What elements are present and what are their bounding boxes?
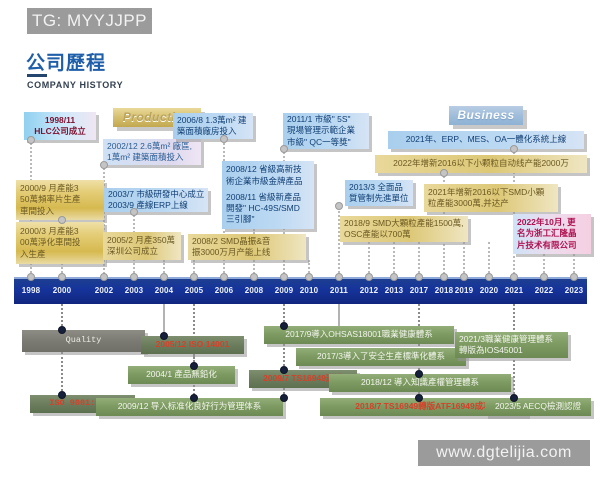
timeline-card-q-2009: 2009/12 导入标准化良好行为管理体系 — [96, 398, 283, 416]
axis-year-2023: 2023 — [565, 286, 584, 295]
timeline-card-text: 2021/3職業健康管理體系轉版為IOS45001 — [455, 332, 568, 358]
card-line: 2022年10月, 更 — [517, 217, 587, 228]
card-line: 片技术有限公司 — [517, 240, 587, 251]
axis-year-2002: 2002 — [95, 286, 114, 295]
card-line: 2013/3 全面品 — [349, 182, 409, 193]
connector-line — [488, 242, 490, 277]
timeline-card-text: 2011/1 市級" 5S"現場管理示範企業市級" QC一等獎" — [283, 113, 369, 149]
connector-line — [393, 242, 395, 277]
card-line: 2022年增新2016以下小颗粒自动线产能2000万 — [379, 158, 583, 169]
card-line: 粒產能3000萬,并达产 — [428, 198, 554, 209]
timeline-node-dot — [130, 208, 138, 216]
card-line: 術企業市級金牌產品 — [226, 176, 310, 187]
card-line: 現場管理示範企業 — [287, 125, 365, 136]
card-line: 1998/11 — [28, 115, 92, 126]
card-line: 2008/2 SMD晶振&音 — [192, 236, 302, 247]
card-line: 2021/3職業健康管理體系 — [459, 334, 564, 345]
card-line: 2017/9導入OHSAS18001職業健康體系 — [268, 329, 450, 340]
timeline-node-dot — [415, 394, 423, 402]
card-line: 2004/1 產品無鉛化 — [132, 369, 231, 380]
timeline-node-dot — [485, 273, 493, 281]
timeline-card-c2022b: 2022年10月, 更名为浙工汇隆晶片技术有限公司 — [513, 214, 591, 254]
timeline-infographic: TG: MYYJJPP www.dgtelijia.com 公司歷程 COMPA… — [0, 0, 600, 480]
card-line: 2011/1 市級" 5S" — [287, 114, 365, 125]
timeline-node-dot — [280, 322, 288, 330]
timeline-node-dot — [220, 135, 228, 143]
timeline-card-c1998: 1998/11HLC公司成立 — [24, 112, 96, 140]
timeline-card-text: 2021年、ERP、MES、OA一體化系統上線 — [388, 131, 584, 149]
timeline-card-c2008: 2008/12 省級高新技術企業市級金牌產品2008/11 省級新產品開發" H… — [222, 161, 314, 229]
timeline-card-text: Quality — [22, 330, 145, 352]
card-line: 2008/11 省級新產品 — [226, 192, 310, 203]
card-line: 2009/12 导入标准化良好行为管理体系 — [100, 401, 279, 412]
axis-year-1998: 1998 — [22, 286, 41, 295]
timeline-node-dot — [415, 370, 423, 378]
timeline-card-text: 2004/1 產品無鉛化 — [128, 366, 235, 384]
timeline-node-dot — [280, 366, 288, 374]
timeline-card-c2011: 2011/1 市級" 5S"現場管理示範企業市級" QC一等獎" — [283, 113, 369, 149]
timeline-node-dot — [130, 273, 138, 281]
timeline-node-dot — [190, 273, 198, 281]
timeline-card-text: 2017/3導入了安全生產標準化體系 — [296, 348, 466, 366]
timeline-card-c2000b: 2000/3 月產能300萬淨化車間投入生產 — [16, 222, 104, 264]
card-line: 2003/9 產線ERP上線 — [108, 200, 204, 211]
card-line: 2017/3導入了安全生產標準化體系 — [300, 351, 462, 362]
axis-year-2000: 2000 — [53, 286, 72, 295]
card-line: 深圳公司成立 — [107, 246, 177, 257]
timeline-node-dot — [335, 273, 343, 281]
timeline-node-dot — [190, 362, 198, 370]
title-underline — [27, 74, 47, 77]
connector-line — [368, 242, 370, 277]
timeline-card-text: 2000/3 月產能300萬淨化車間投入生產 — [16, 222, 104, 264]
card-line: 轉版為IOS45001 — [459, 345, 564, 356]
card-line: Quality — [26, 335, 141, 346]
timeline-card-c2005: 2005/2 月產350萬深圳公司成立 — [103, 232, 181, 260]
timeline-node-dot — [335, 202, 343, 210]
card-line: 2000/9 月產能3 — [20, 183, 100, 194]
watermark-bottom: www.dgtelijia.com — [418, 440, 590, 466]
connector-line — [61, 352, 63, 395]
timeline-node-dot — [305, 273, 313, 281]
connector-line — [418, 242, 420, 277]
timeline-node-dot — [27, 273, 35, 281]
card-line: 開發" HC-49S/SMD — [226, 203, 310, 214]
card-line: 入生產 — [20, 249, 100, 260]
timeline-card-q-2004: 2004/1 產品無鉛化 — [128, 366, 235, 384]
timeline-node-dot — [280, 394, 288, 402]
axis-year-2021: 2021 — [505, 286, 524, 295]
timeline-card-c2013: 2013/3 全面品質管制先進單位 — [345, 180, 413, 206]
timeline-node-dot — [280, 145, 288, 153]
timeline-node-dot — [440, 169, 448, 177]
timeline-card-q-2017a: 2017/9導入OHSAS18001職業健康體系 — [264, 326, 454, 344]
card-line: 2000/3 月產能3 — [20, 226, 100, 237]
timeline-card-text: 2022年10月, 更名为浙工汇隆晶片技术有限公司 — [513, 214, 591, 254]
card-line: 質管制先進單位 — [349, 193, 409, 204]
timeline-node-dot — [510, 145, 518, 153]
timeline-card-c2018: 2018/9 SMD大顆粒產能1500萬,OSC產能以700萬 — [340, 216, 468, 242]
timeline-node-dot — [540, 273, 548, 281]
timeline-card-q-2017b: 2017/3導入了安全生產標準化體系 — [296, 348, 466, 366]
timeline-card-text: 2021年增新2016以下SMD小顆粒產能3000萬,并达产 — [424, 184, 558, 212]
card-line: 2005/12 ISO 14001 — [145, 339, 240, 350]
timeline-card-text: 2013/3 全面品質管制先進單位 — [345, 180, 413, 206]
axis-year-2008: 2008 — [245, 286, 264, 295]
card-line: OSC產能以700萬 — [344, 229, 464, 240]
timeline-card-c2021: 2021年、ERP、MES、OA一體化系統上線 — [388, 131, 584, 149]
timeline-card-q-2021: 2021/3職業健康管理體系轉版為IOS45001 — [455, 332, 568, 358]
timeline-node-dot — [58, 326, 66, 334]
timeline-card-c2000: 2000/9 月產能350萬頻率片生產車間投入 — [16, 180, 104, 220]
card-line: 2018/12 導入知識產權管理體系 — [333, 377, 507, 388]
timeline-card-text: 2009/12 导入标准化良好行为管理体系 — [96, 398, 283, 416]
timeline-card-c2008b: 2008/2 SMD晶振&音振3000万月产能上线 — [188, 234, 306, 260]
timeline-card-text: 1998/11HLC公司成立 — [24, 112, 96, 140]
ribbon-business: Business — [449, 106, 523, 125]
timeline-card-text: 2003/7 市級研發中心成立2003/9 產線ERP上線 — [104, 188, 208, 212]
card-line: 2021年增新2016以下SMD小顆 — [428, 187, 554, 198]
timeline-node-dot — [100, 273, 108, 281]
card-line: 00萬淨化車間投 — [20, 237, 100, 248]
timeline-node-dot — [415, 273, 423, 281]
timeline-node-dot — [100, 161, 108, 169]
card-line: HLC公司成立 — [28, 126, 92, 137]
axis-year-2004: 2004 — [155, 286, 174, 295]
timeline-node-dot — [58, 391, 66, 399]
timeline-node-dot — [365, 273, 373, 281]
page-title: 公司歷程 — [26, 48, 106, 75]
card-line: 2003/7 市級研發中心成立 — [108, 189, 204, 200]
timeline-node-dot — [58, 273, 66, 281]
axis-year-2019: 2019 — [455, 286, 474, 295]
timeline-node-dot — [220, 273, 228, 281]
timeline-card-text: 2017/9導入OHSAS18001職業健康體系 — [264, 326, 454, 344]
timeline-card-c2022: 2022年增新2016以下小颗粒自动线产能2000万 — [375, 155, 587, 173]
timeline-node-dot — [58, 216, 66, 224]
timeline-card-text: 2018/9 SMD大顆粒產能1500萬,OSC產能以700萬 — [340, 216, 468, 242]
axis-year-2006: 2006 — [215, 286, 234, 295]
timeline-node-dot — [510, 394, 518, 402]
timeline-card-c2002: 2002/12 2.6萬m² 廠區,1萬m² 建築面積投入 — [103, 139, 201, 165]
timeline-node-dot — [570, 273, 578, 281]
card-line: 市級" QC一等獎" — [287, 137, 365, 148]
timeline-node-dot — [27, 136, 35, 144]
timeline-card-text: 2006/8 1.3萬m² 建築面積廠房投入 — [173, 113, 253, 139]
card-line: 2018/9 SMD大顆粒產能1500萬, — [344, 218, 464, 229]
axis-year-2009: 2009 — [275, 286, 294, 295]
ribbon-business-label: Business — [449, 106, 523, 125]
axis-year-2003: 2003 — [125, 286, 144, 295]
axis-year-2011: 2011 — [330, 286, 348, 295]
timeline-node-dot — [250, 273, 258, 281]
axis-year-2013: 2013 — [385, 286, 404, 295]
timeline-card-text: 2022年增新2016以下小颗粒自动线产能2000万 — [375, 155, 587, 173]
card-line: 振3000万月产能上线 — [192, 247, 302, 258]
card-line: 2008/12 省級高新技 — [226, 164, 310, 175]
timeline-card-text: 2002/12 2.6萬m² 廠區,1萬m² 建築面積投入 — [103, 139, 201, 165]
timeline-card-text: 2008/12 省級高新技術企業市級金牌產品2008/11 省級新產品開發" H… — [222, 161, 314, 229]
timeline-card-text: 2000/9 月產能350萬頻率片生產車間投入 — [16, 180, 104, 220]
timeline-card-c2006: 2006/8 1.3萬m² 建築面積廠房投入 — [173, 113, 253, 139]
card-line: 築面積廠房投入 — [177, 126, 249, 137]
timeline-node-dot — [190, 394, 198, 402]
timeline-card-q-2023: 2023/5 AECQ檢測認證 — [485, 398, 591, 416]
card-line: 名为浙工汇隆晶 — [517, 228, 587, 239]
axis-year-2022: 2022 — [535, 286, 554, 295]
axis-year-2005: 2005 — [185, 286, 204, 295]
axis-year-2012: 2012 — [360, 286, 379, 295]
card-line: 2002/12 2.6萬m² 廠區, — [107, 141, 197, 152]
timeline-card-c2021b: 2021年增新2016以下SMD小顆粒產能3000萬,并达产 — [424, 184, 558, 212]
timeline-card-text: 2023/5 AECQ檢測認證 — [485, 398, 591, 416]
timeline-node-dot — [160, 332, 168, 340]
timeline-card-q-2005: 2005/12 ISO 14001 — [141, 336, 244, 354]
timeline-card-q-quality: Quality — [22, 330, 145, 352]
card-line: 1萬m² 建築面積投入 — [107, 152, 197, 163]
timeline-node-dot — [510, 273, 518, 281]
timeline-card-c2003: 2003/7 市級研發中心成立2003/9 產線ERP上線 — [104, 188, 208, 212]
page-subtitle: COMPANY HISTORY — [27, 80, 123, 90]
timeline-card-text: 2008/2 SMD晶振&音振3000万月产能上线 — [188, 234, 306, 260]
card-line: 三引腳" — [226, 214, 310, 225]
timeline-node-dot — [160, 273, 168, 281]
connector-line — [463, 242, 465, 277]
axis-year-2017: 2017 — [410, 286, 429, 295]
timeline-node-dot — [280, 273, 288, 281]
timeline-node-dot — [390, 273, 398, 281]
card-line: 50萬頻率片生產 — [20, 194, 100, 205]
card-line: 2023/5 AECQ檢測認證 — [489, 401, 587, 412]
card-line: 2021年、ERP、MES、OA一體化系統上線 — [392, 134, 580, 145]
timeline-node-dot — [440, 273, 448, 281]
axis-year-2010: 2010 — [300, 286, 319, 295]
card-line: 2005/2 月產350萬 — [107, 235, 177, 246]
axis-year-2018: 2018 — [435, 286, 454, 295]
timeline-node-dot — [460, 273, 468, 281]
axis-year-2020: 2020 — [480, 286, 499, 295]
timeline-card-text: 2005/2 月產350萬深圳公司成立 — [103, 232, 181, 260]
card-line: 2006/8 1.3萬m² 建 — [177, 115, 249, 126]
watermark-top: TG: MYYJJPP — [27, 8, 152, 34]
timeline-card-text: 2005/12 ISO 14001 — [141, 336, 244, 354]
